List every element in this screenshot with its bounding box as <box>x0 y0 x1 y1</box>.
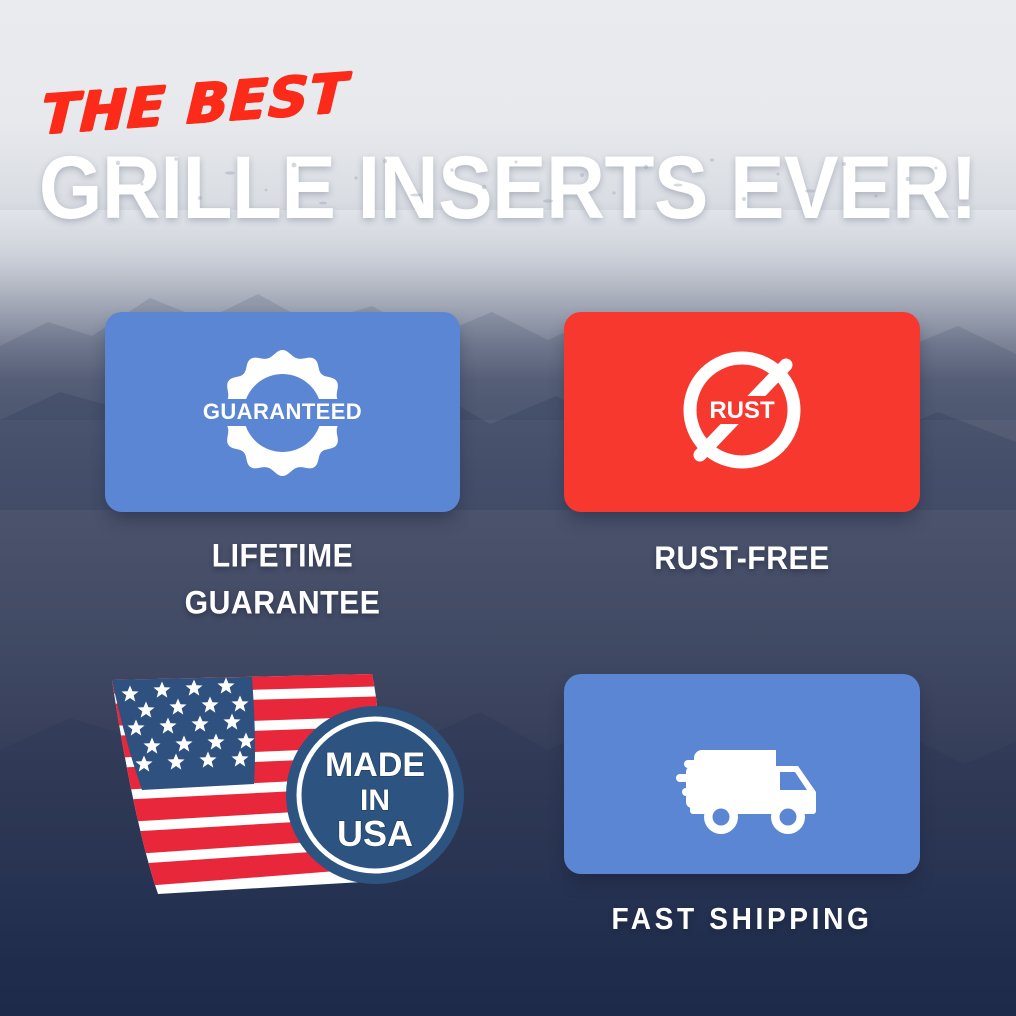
caption-lifetime-guarantee: LIFETIME GUARANTEE <box>98 533 467 627</box>
guarantee-seal-icon: GUARANTEED <box>105 312 460 512</box>
seal-line-usa: USA <box>337 813 413 854</box>
caption-rust-free: RUST-FREE <box>557 535 927 582</box>
delivery-truck-icon <box>564 674 920 874</box>
feature-card-lifetime-guarantee[interactable]: GUARANTEED <box>105 312 460 512</box>
guarantee-badge-label: GUARANTEED <box>203 399 362 424</box>
feature-card-fast-shipping[interactable] <box>564 674 920 874</box>
page-title: GRILLE INSERTS EVER! <box>0 140 1016 238</box>
seal-line-made: MADE <box>325 746 425 784</box>
rust-badge-label: RUST <box>709 397 775 424</box>
promo-graphic: THE BEST GRILLE INSERTS EVER! GUA <box>0 0 1016 1016</box>
feature-made-in-usa[interactable]: MADE IN USA <box>100 664 470 894</box>
no-rust-icon: RUST <box>564 312 920 512</box>
caption-fast-shipping: FAST SHIPPING <box>557 895 927 942</box>
feature-card-rust-free[interactable]: RUST <box>564 312 920 512</box>
made-in-usa-seal: MADE IN USA <box>286 706 464 884</box>
